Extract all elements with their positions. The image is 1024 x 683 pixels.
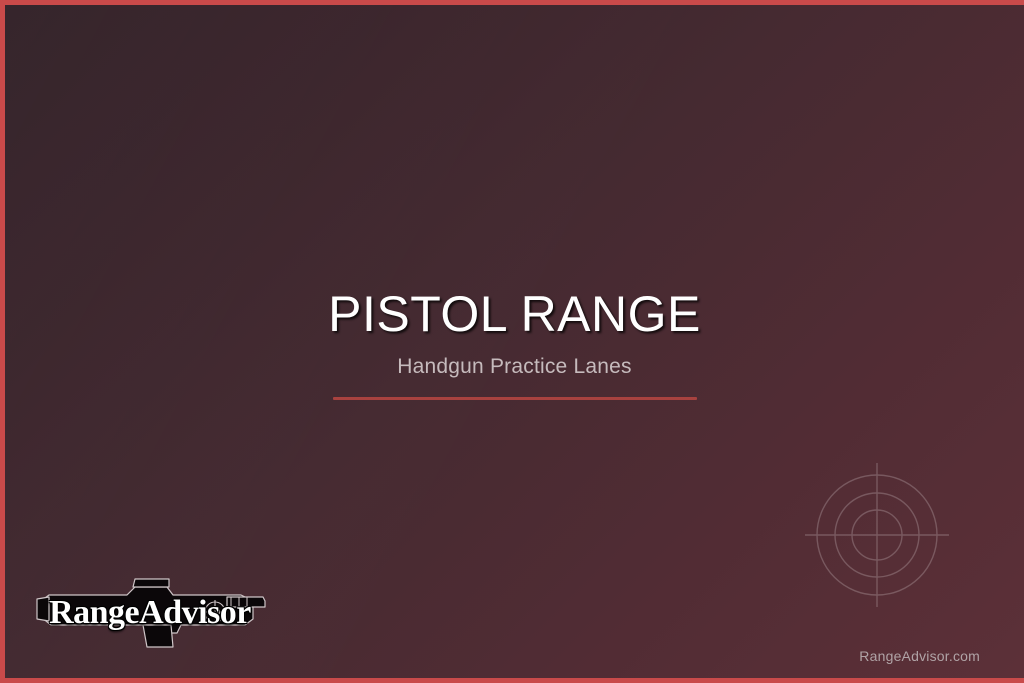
title-divider (333, 397, 697, 400)
rifle-silhouette-icon (31, 567, 269, 653)
title-block: PISTOL RANGE Handgun Practice Lanes (5, 288, 1024, 400)
target-reticle-icon (797, 455, 957, 615)
page-subtitle: Handgun Practice Lanes (5, 355, 1024, 379)
brand-logo: RangeAdvisor (31, 567, 269, 653)
footer-website: RangeAdvisor.com (859, 648, 980, 664)
page-title: PISTOL RANGE (5, 288, 1024, 341)
slide-canvas: PISTOL RANGE Handgun Practice Lanes (0, 0, 1024, 683)
